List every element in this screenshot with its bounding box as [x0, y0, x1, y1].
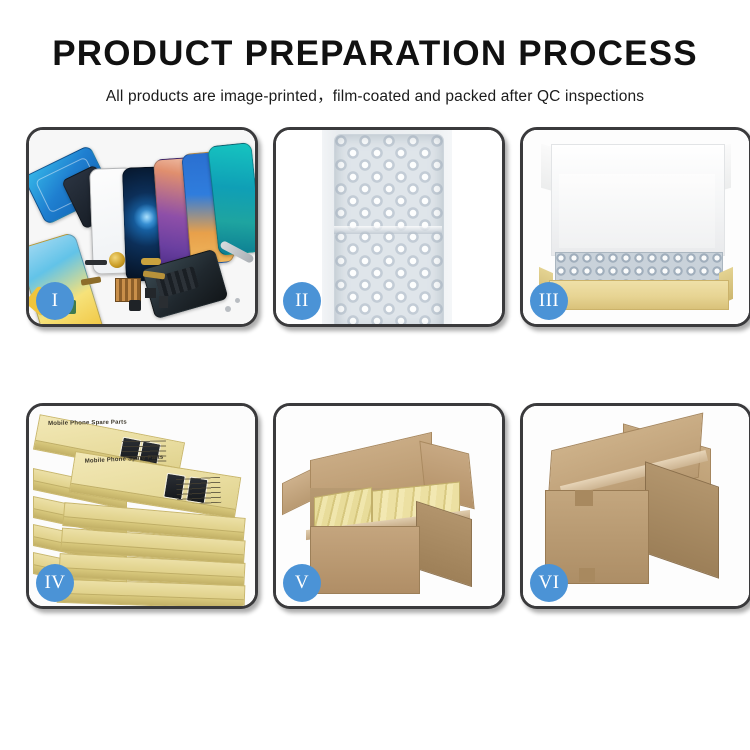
- step-badge-3: III: [530, 282, 568, 320]
- small-module-part-3: [159, 296, 168, 308]
- gold-connector-part: [141, 258, 161, 265]
- step-panel-4: Mobile Phone Spare Parts Mobile Phone Sp…: [26, 403, 258, 609]
- step-panel-3: III: [520, 127, 750, 327]
- step-badge-1: I: [36, 282, 74, 320]
- page-header: PRODUCT PREPARATION PROCESS All products…: [0, 0, 750, 106]
- foam-sheet: [559, 174, 715, 248]
- step-badge-5: V: [283, 564, 321, 602]
- step-panel-2: II: [273, 127, 505, 327]
- step-panel-5: V: [273, 403, 505, 609]
- small-module-part-2: [129, 300, 141, 311]
- carton-front-panel: [310, 526, 420, 594]
- small-module-part-1: [145, 288, 156, 298]
- chip-grid-part: [115, 278, 141, 302]
- step-panel-1: I: [26, 127, 258, 327]
- page-title: PRODUCT PREPARATION PROCESS: [0, 36, 750, 71]
- step-badge-2: II: [283, 282, 321, 320]
- bubble-wrap-fold: [334, 226, 442, 234]
- process-steps-grid: I II III: [12, 127, 738, 609]
- carton-hand-hole-bottom: [579, 568, 595, 582]
- box-edge-shadow: [58, 593, 244, 606]
- page-subtitle: All products are image-printed，film-coat…: [0, 84, 750, 106]
- screw-part-2: [235, 298, 240, 303]
- inner-box-front: [549, 280, 729, 310]
- antenna-bar-part: [85, 260, 107, 265]
- step-badge-6: VI: [530, 564, 568, 602]
- retail-box-print-label: Mobile Phone Spare Parts: [48, 420, 127, 427]
- screw-part-1: [225, 306, 231, 312]
- step-badge-4: IV: [36, 564, 74, 602]
- carton-hand-hole-top: [575, 490, 593, 506]
- speaker-part: [109, 252, 125, 268]
- step-panel-6: VI: [520, 403, 750, 609]
